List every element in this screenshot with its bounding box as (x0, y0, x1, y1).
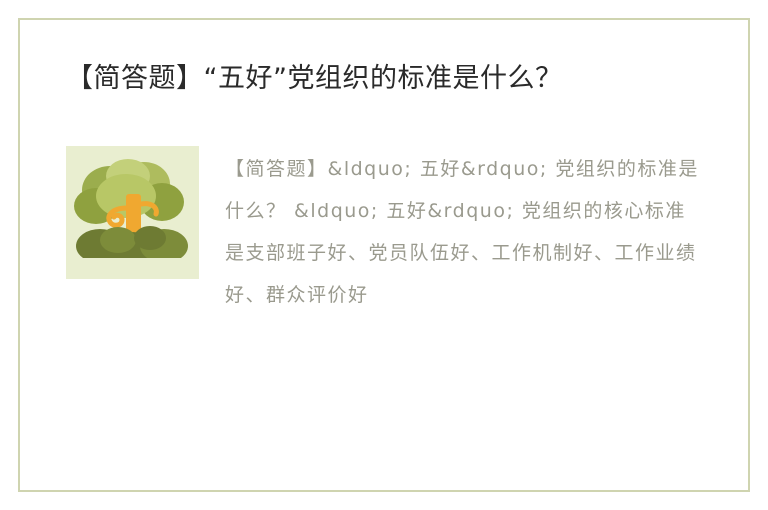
page-root: 【简答题】“五好”党组织的标准是什么？ (0, 0, 768, 510)
tree-illustration-graphic (66, 146, 199, 279)
content-frame: 【简答题】“五好”党组织的标准是什么？ (18, 18, 750, 492)
article-paragraph: 【简答题】&ldquo; 五好&rdquo; 党组织的标准是什么？ &ldquo… (225, 146, 702, 316)
tree-illustration (66, 146, 199, 279)
page-title: 【简答题】“五好”党组织的标准是什么？ (66, 58, 626, 99)
content-area: 【简答题】“五好”党组织的标准是什么？ (66, 58, 702, 480)
article-body: 【简答题】&ldquo; 五好&rdquo; 党组织的标准是什么？ &ldquo… (66, 146, 702, 316)
